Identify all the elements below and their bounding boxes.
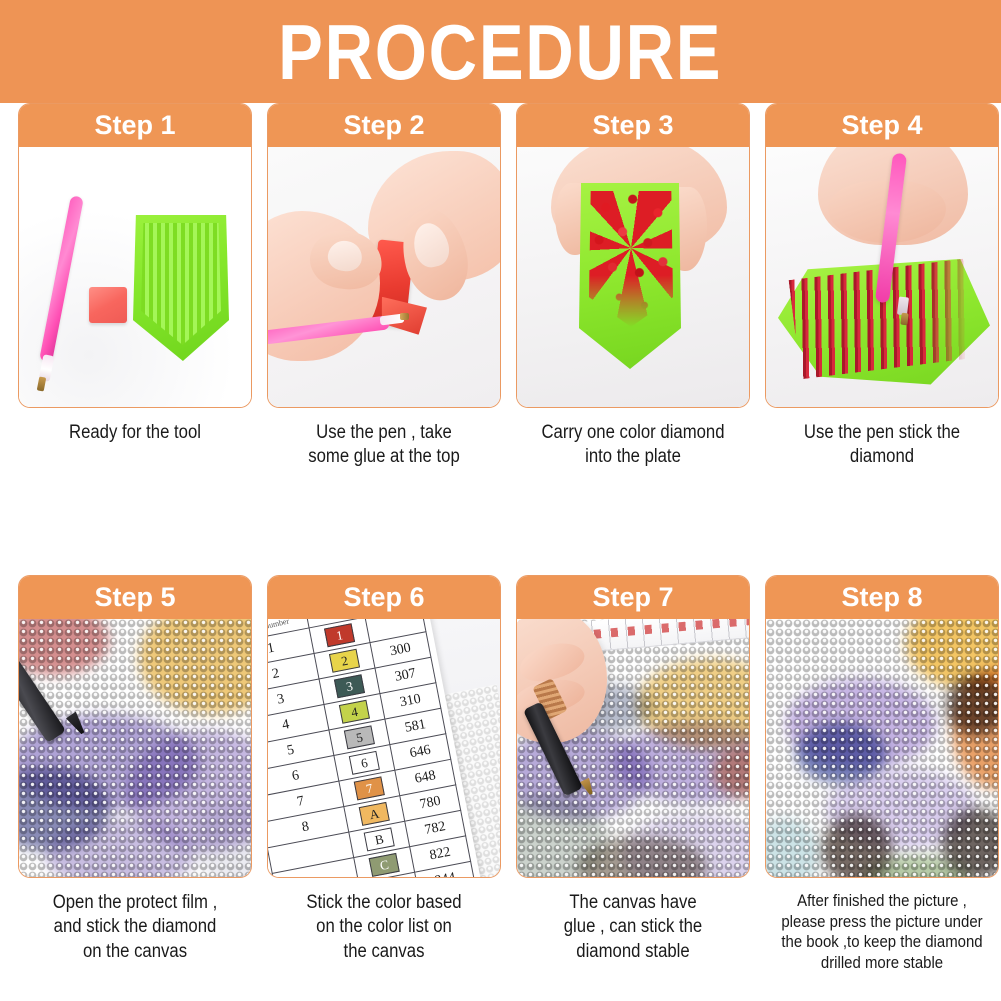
step-caption-2: Use the pen , take some glue at the top [281,421,487,470]
step-header-2: Step 2 [268,104,500,147]
symbol-swatch: 1 [324,623,355,647]
step-cell-4: Step 4 Use the pen stick the diamond [765,103,999,408]
symbol-swatch: 6 [349,751,380,775]
step-header-6: Step 6 [268,576,500,619]
symbol-swatch: 3 [334,674,365,698]
step-image-3 [517,147,749,407]
step-caption-4: Use the pen stick the diamond [779,421,985,470]
step-caption-5: Open the protect film , and stick the di… [32,891,238,964]
symbol-swatch: A [359,802,390,826]
step-card-7[interactable]: Step 7 [516,575,750,878]
step-image-6: Serial number Symbol DMC 112230033307443… [268,619,500,877]
symbol-swatch: C [369,853,400,877]
step-caption-3: Carry one color diamond into the plate [530,421,736,470]
page-banner: PROCEDURE [0,0,1001,103]
step-header-5: Step 5 [19,576,251,619]
step-cell-5: Step 5 [18,575,252,878]
step-cell-1: Step 1 Ready for the tool [18,103,252,408]
symbol-swatch: 7 [354,776,385,800]
step-cell-7: Step 7 [516,575,750,878]
step-header-1: Step 1 [19,104,251,147]
step-header-4: Step 4 [766,104,998,147]
symbol-swatch: B [364,827,395,851]
step-caption-8: After finished the picture , please pres… [779,891,985,974]
step-card-1[interactable]: Step 1 [18,103,252,408]
page-title: PROCEDURE [278,13,722,91]
step-card-4[interactable]: Step 4 [765,103,999,408]
step-caption-6: Stick the color based on the color list … [281,891,487,964]
step-card-8[interactable]: Step 8 [765,575,999,878]
step-caption-1: Ready for the tool [32,421,238,445]
step-image-8 [766,619,998,877]
step-header-8: Step 8 [766,576,998,619]
step-card-3[interactable]: Step 3 [516,103,750,408]
steps-row-1: Step 1 Ready for the tool [0,103,1001,573]
symbol-swatch: 4 [339,700,370,724]
step-image-5 [19,619,251,877]
step-image-1 [19,147,251,407]
wax-square-icon [89,287,127,323]
step-caption-7: The canvas have glue , can stick the dia… [530,891,736,964]
step-cell-2: Step 2 [267,103,501,408]
step-cell-3: Step 3 Carry one color diamond into the … [516,103,750,408]
step-cell-6: Step 6 Serial number Symbol [267,575,501,878]
step-image-4 [766,147,998,407]
steps-row-2: Step 5 [0,575,1001,995]
symbol-swatch: 2 [329,649,360,673]
step-header-3: Step 3 [517,104,749,147]
step-card-6[interactable]: Step 6 Serial number Symbol [267,575,501,878]
step-card-5[interactable]: Step 5 [18,575,252,878]
step-image-2 [268,147,500,407]
step-image-7 [517,619,749,877]
step-header-7: Step 7 [517,576,749,619]
step-cell-8: Step 8 [765,575,999,878]
step-card-2[interactable]: Step 2 [267,103,501,408]
symbol-swatch: 5 [344,725,375,749]
steps-grid: Step 1 Ready for the tool [0,103,1001,995]
